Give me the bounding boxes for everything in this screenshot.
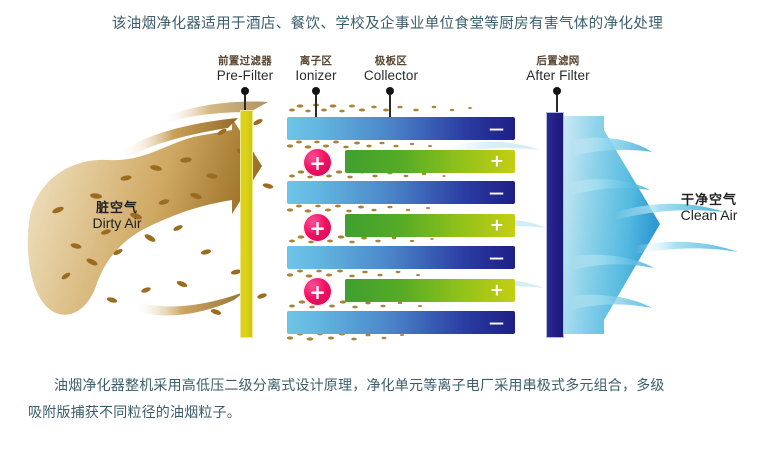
ionizer-positive-node: +: [303, 213, 332, 242]
dirty-air-label-cn: 脏空气: [62, 200, 172, 215]
page-title: 该油烟净化器适用于酒店、餐饮、学校及企事业单位食堂等厨房有害气体的净化处理: [0, 12, 775, 33]
ionizer-node-sign: +: [303, 148, 332, 177]
ionizer-node-sign: +: [303, 213, 332, 242]
callout-collector-en: Collector: [345, 68, 437, 83]
plate-positive-sign: +: [490, 217, 504, 234]
ionizer-positive-node: +: [303, 277, 332, 306]
callout-after-filter-cn: 后置滤网: [505, 56, 611, 68]
caption-line-2: 吸附版捕获不同粒径的油烟粒子。: [28, 404, 241, 420]
caption-block: 油烟净化器整机采用高低压二级分离式设计原理，净化单元等离子电厂采用串极式多元组合…: [28, 372, 750, 427]
callout-after-filter: 后置滤网 After Filter: [505, 56, 611, 83]
ionizer-node-sign: +: [303, 277, 332, 306]
plate-positive-sign: +: [490, 153, 504, 170]
collector-plate-positive: +: [345, 214, 515, 237]
after-filter-element: [546, 112, 564, 338]
collector-plate-positive: +: [345, 150, 515, 173]
plate-positive-sign: +: [490, 282, 504, 299]
ionizer-positive-node: +: [303, 148, 332, 177]
clean-air-label: 干净空气 Clean Air: [655, 192, 763, 224]
callout-collector-cn: 极板区: [345, 56, 437, 68]
collector-plate-negative: —: [287, 246, 515, 269]
infographic-canvas: 该油烟净化器适用于酒店、餐饮、学校及企事业单位食堂等厨房有害气体的净化处理: [0, 0, 775, 451]
plate-negative-sign: —: [489, 121, 504, 136]
plate-negative-sign: —: [489, 250, 504, 265]
collector-plate-negative: —: [287, 311, 515, 334]
callout-collector: 极板区 Collector: [345, 56, 437, 83]
collector-plate-negative: —: [287, 181, 515, 204]
clean-air-flow: [562, 116, 738, 334]
dirty-air-label: 脏空气 Dirty Air: [62, 200, 172, 232]
callout-after-filter-en: After Filter: [505, 68, 611, 83]
collector-plate-negative: —: [287, 117, 515, 140]
caption-line-1: 油烟净化器整机采用高低压二级分离式设计原理，净化单元等离子电厂采用串极式多元组合…: [54, 377, 665, 393]
collector-plate-positive: +: [345, 279, 515, 302]
clean-air-label-cn: 干净空气: [655, 192, 763, 207]
pre-filter-element: [240, 110, 253, 338]
dirty-air-label-en: Dirty Air: [62, 215, 172, 232]
plate-negative-sign: —: [489, 315, 504, 330]
clean-air-label-en: Clean Air: [655, 207, 763, 224]
plate-negative-sign: —: [489, 185, 504, 200]
